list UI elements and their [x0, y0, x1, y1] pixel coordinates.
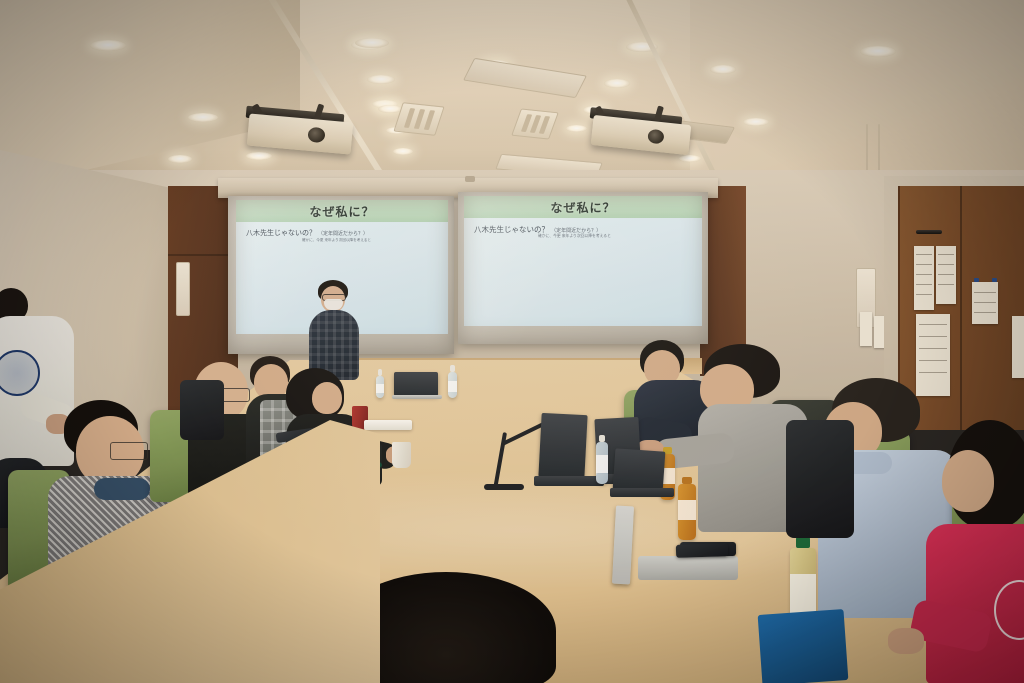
downlight	[246, 152, 272, 160]
water-bottle	[448, 372, 457, 398]
laptop	[394, 372, 438, 396]
slide-body-paren: （定年間近だから？）	[318, 231, 368, 237]
slide-title: なぜ私に？	[309, 203, 374, 220]
laptop	[613, 448, 666, 493]
door-notice	[1012, 316, 1024, 378]
glasses-icon	[110, 442, 148, 460]
water-bottle	[596, 442, 608, 484]
downlight	[378, 105, 402, 113]
notice-pin	[992, 278, 997, 282]
tablet	[758, 609, 849, 683]
door-handle[interactable]	[916, 230, 942, 234]
laptop-base	[638, 556, 738, 580]
slide-title-band: なぜ私に？	[464, 196, 702, 218]
seminar-room-photo: なぜ私に？ 八木先生じゃないの？ （定年間近だから？） 確かに、今更 来年より次…	[0, 0, 1024, 683]
paper-cup	[392, 442, 411, 468]
bottle-cap	[599, 435, 606, 442]
bottle-cap	[378, 369, 383, 376]
bottle-label	[678, 500, 696, 520]
bottle-label	[596, 455, 608, 473]
bottle-label	[448, 381, 457, 392]
bottle-cap	[796, 537, 811, 548]
face-mask	[324, 299, 343, 310]
downlight	[393, 148, 413, 155]
slide-body-main: 八木先生じゃないの？	[474, 225, 549, 234]
downlight	[710, 65, 736, 74]
head	[942, 450, 994, 512]
wall-notice	[860, 312, 872, 346]
slide-title: なぜ私に？	[550, 199, 615, 216]
slide-body-sub: 確かに、今更 来年より次回以降を考えると	[302, 238, 371, 243]
notice-pin	[974, 278, 979, 282]
downlight	[90, 40, 126, 51]
screen-valance-knob	[465, 176, 475, 182]
bottle-cap	[450, 365, 455, 372]
wall-switch-plate	[176, 262, 190, 316]
backpack	[180, 380, 224, 440]
bottle-label	[376, 384, 384, 393]
slide-body-line: 八木先生じゃないの？ （定年間近だから？）	[246, 228, 368, 238]
right-projection-screen: なぜ私に？ 八木先生じゃないの？ （定年間近だから？） 確かに、今更 来年より次…	[458, 192, 708, 344]
bottle-cap	[682, 477, 692, 484]
downlight	[679, 155, 701, 162]
collar	[94, 478, 150, 500]
tea-bottle	[678, 484, 696, 540]
laptop-base	[610, 488, 674, 497]
downlight	[604, 79, 630, 88]
laptop	[538, 413, 587, 479]
door-notice	[914, 246, 934, 310]
door-notice	[972, 282, 998, 324]
downlight	[566, 125, 587, 132]
downlight	[188, 113, 218, 122]
downlight	[743, 118, 769, 126]
slide-right: なぜ私に？ 八木先生じゃないの？ （定年間近だから？） 確かに、今更 来年より次…	[464, 196, 702, 326]
slide-body-sub: 確かに、今更 来年より次回以降を考えると	[538, 234, 611, 239]
laptop-base	[392, 395, 442, 399]
downlight	[355, 38, 389, 48]
paper-stack	[364, 420, 412, 430]
downlight	[860, 46, 896, 57]
water-bottle	[376, 376, 384, 398]
door-notice	[936, 246, 956, 304]
attendee-pink	[926, 420, 1024, 683]
head	[312, 382, 342, 414]
downlight	[168, 155, 192, 163]
backpack	[786, 420, 854, 538]
laptop-base	[534, 476, 604, 486]
smartphone	[676, 543, 728, 558]
slide-body-main: 八木先生じゃないの？	[246, 230, 316, 237]
slide-title-band: なぜ私に？	[236, 200, 448, 222]
hand	[888, 628, 924, 654]
downlight	[367, 75, 395, 84]
microphone-base	[484, 484, 524, 490]
